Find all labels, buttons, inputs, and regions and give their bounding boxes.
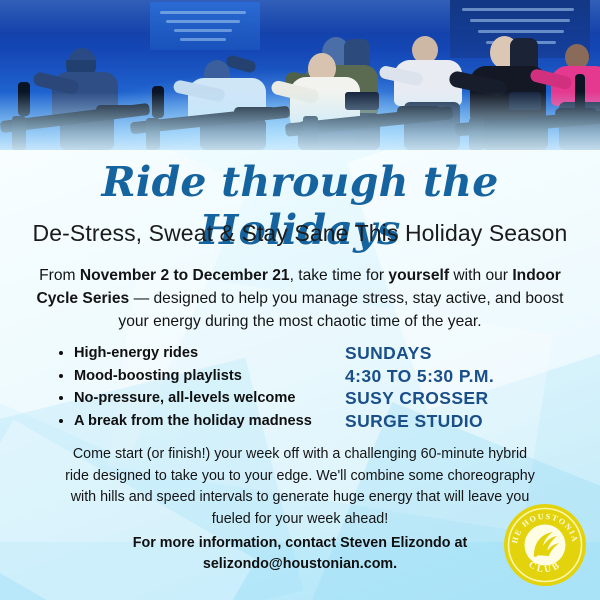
houstonian-club-logo: THE HOUSTONIAN CLUB: [503, 503, 587, 587]
list-item: Mood-boosting playlists: [74, 365, 346, 388]
list-item: No-pressure, all-levels welcome: [74, 387, 346, 410]
intro-dates: November 2 to December 21: [80, 267, 290, 284]
schedule-instructor: SUSY CROSSER: [345, 387, 585, 410]
intro-part-4: — designed to help you manage stress, st…: [118, 290, 563, 330]
contact-email: selizondo@houstonian.com.: [60, 554, 540, 575]
intro-paragraph: From November 2 to December 21, take tim…: [32, 264, 568, 333]
list-item: High-energy rides: [74, 342, 346, 365]
intro-emphasis-yourself: yourself: [388, 267, 449, 284]
schedule-block: SUNDAYS 4:30 TO 5:30 P.M. SUSY CROSSER S…: [345, 342, 585, 432]
schedule-day: SUNDAYS: [345, 342, 585, 365]
contact-info: For more information, contact Steven Eli…: [60, 533, 540, 575]
intro-part-3: with our: [449, 267, 512, 284]
intro-part-2: , take time for: [290, 267, 389, 284]
hero-photo: [0, 0, 600, 150]
photo-light-haze: [0, 92, 600, 150]
flyer: Ride through the Holidays De-Stress, Swe…: [0, 0, 600, 600]
class-description: Come start (or finish!) your week off wi…: [60, 444, 540, 530]
schedule-location: SURGE STUDIO: [345, 410, 585, 433]
feature-list: High-energy rides Mood-boosting playlist…: [56, 342, 346, 432]
subtitle: De-Stress, Sweat & Stay Sane This Holida…: [0, 220, 600, 247]
list-item: A break from the holiday madness: [74, 410, 346, 433]
contact-line-1: For more information, contact Steven Eli…: [60, 533, 540, 554]
intro-part-1: From: [39, 267, 80, 284]
schedule-time: 4:30 TO 5:30 P.M.: [345, 365, 585, 388]
